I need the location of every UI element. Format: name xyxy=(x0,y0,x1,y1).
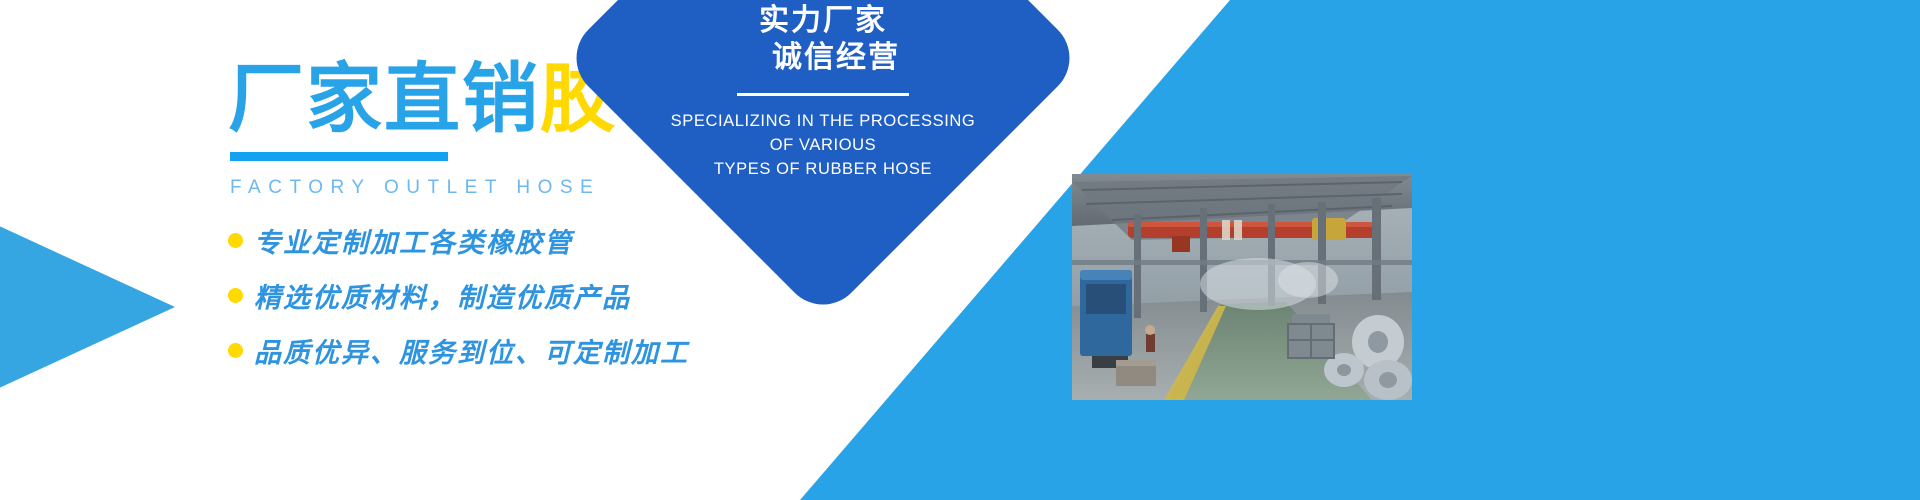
headline-primary: 厂家直销 xyxy=(228,54,540,143)
promo-banner: 厂家直销胶管 FACTORY OUTLET HOSE 专业定制加工各类橡胶管 精… xyxy=(0,0,1920,500)
feature-text: 品质优异、服务到位、可定制加工 xyxy=(254,331,689,370)
list-item: 精选优质材料，制造优质产品 xyxy=(228,276,868,315)
list-item: 品质优异、服务到位、可定制加工 xyxy=(228,331,868,370)
feature-text: 精选优质材料，制造优质产品 xyxy=(254,276,631,315)
background-chevron-inner xyxy=(0,208,175,406)
factory-photo xyxy=(1072,174,1412,400)
bullet-dot-icon xyxy=(228,288,243,303)
bullet-dot-icon xyxy=(228,233,243,248)
feature-text: 专业定制加工各类橡胶管 xyxy=(254,221,573,260)
bullet-dot-icon xyxy=(228,343,243,358)
title-divider xyxy=(230,152,448,161)
